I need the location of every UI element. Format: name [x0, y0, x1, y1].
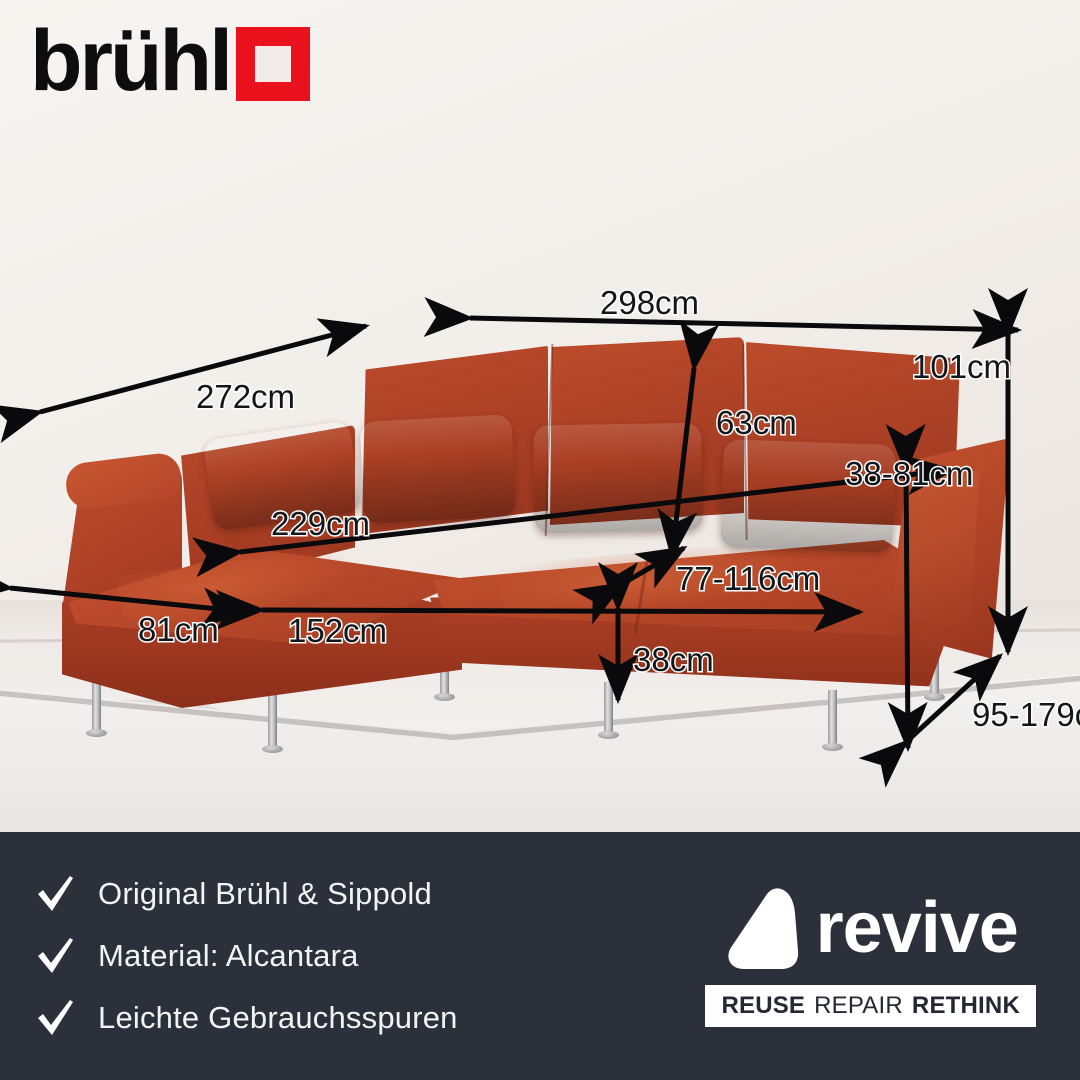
dimension-label-total-height: 101cm	[912, 348, 1011, 386]
dimension-label-chaise-width: 81cm	[138, 611, 219, 649]
tagline-word-rethink: RETHINK	[912, 992, 1020, 1020]
sofa-leg	[828, 690, 837, 746]
check-icon	[34, 997, 76, 1039]
dimension-label-chaise-depth: 152cm	[288, 612, 387, 650]
sofa	[0, 0, 1080, 832]
brand-logo: brühl	[30, 22, 310, 101]
dimension-label-overall-width: 298cm	[600, 284, 699, 322]
brand-square-inner	[255, 46, 291, 82]
brand-wordmark: brühl	[30, 22, 230, 101]
striped-cushion	[359, 414, 516, 524]
seller-logo: revive REUSE REPAIR RETHINK	[705, 885, 1036, 1027]
dimension-label-seat-height: 38cm	[633, 641, 714, 679]
tagline-word-repair: REPAIR	[814, 992, 903, 1020]
list-item: Leichte Gebrauchsspuren	[34, 997, 458, 1039]
dimension-label-depth-range: 95-179c	[972, 696, 1080, 734]
striped-cushion	[533, 423, 703, 534]
tagline-word-reuse: REUSE	[721, 992, 805, 1020]
brand-square-icon	[236, 27, 310, 101]
dimension-label-chaise-length: 229cm	[271, 505, 370, 543]
feature-list: Original Brühl & Sippold Material: Alcan…	[34, 873, 458, 1039]
revive-leaf-icon	[724, 885, 802, 971]
check-icon	[34, 935, 76, 977]
feature-label: Leichte Gebrauchsspuren	[98, 1000, 458, 1036]
check-icon	[34, 873, 76, 915]
feature-label: Original Brühl & Sippold	[98, 876, 432, 912]
seller-tagline: REUSE REPAIR RETHINK	[705, 985, 1036, 1027]
product-listing-image: 298cm 272cm 101cm 63cm 38-81cm 229cm 77-…	[0, 0, 1080, 1080]
dimension-label-seat-depth-range: 77-116cm	[676, 560, 820, 598]
seller-banner: Original Brühl & Sippold Material: Alcan…	[0, 832, 1080, 1080]
dimension-label-backrest-height: 63cm	[716, 404, 797, 442]
sofa-leg	[604, 682, 613, 734]
sofa-leg	[92, 678, 101, 732]
list-item: Original Brühl & Sippold	[34, 873, 458, 915]
seller-logo-row: revive	[724, 885, 1018, 971]
list-item: Material: Alcantara	[34, 935, 458, 977]
dimension-label-armrest-height: 38-81cm	[845, 455, 973, 493]
sofa-leg	[268, 690, 277, 748]
feature-label: Material: Alcantara	[98, 938, 359, 974]
seller-wordmark: revive	[816, 896, 1018, 961]
dimension-label-overall-depth-left: 272cm	[196, 378, 295, 416]
product-photo: 298cm 272cm 101cm 63cm 38-81cm 229cm 77-…	[0, 0, 1080, 832]
